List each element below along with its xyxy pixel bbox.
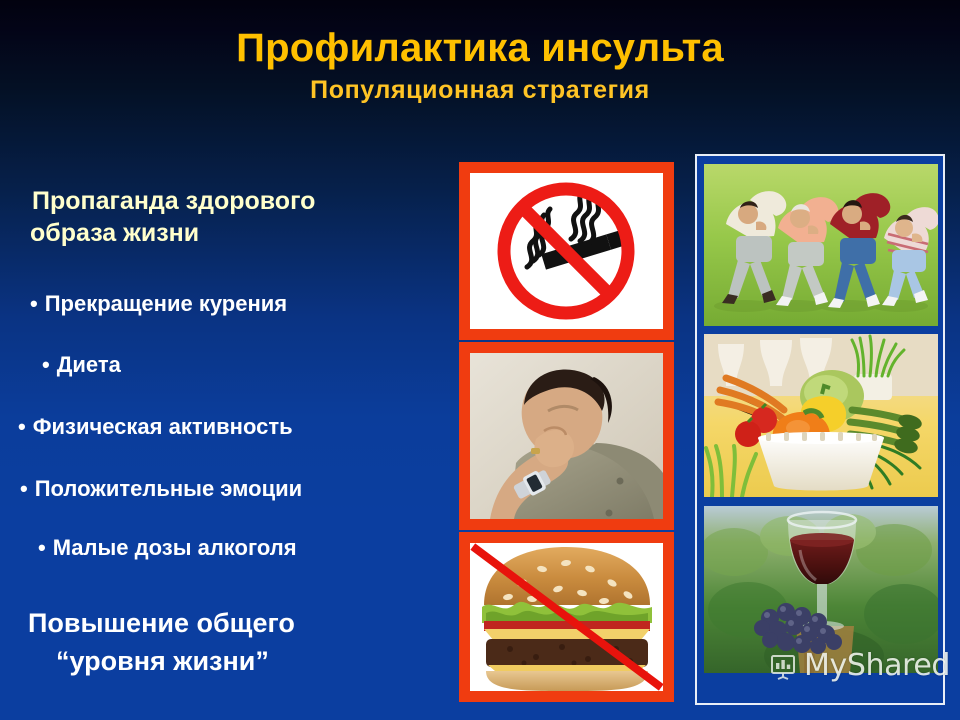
presentation-slide: Профилактика инсульта Популяционная стра… [0,0,960,720]
list-item: •Физическая активность [18,414,293,440]
photo-frame-no-smoking [459,162,674,340]
bullet-dot-icon: • [20,476,28,502]
list-item: •Диета [42,352,121,378]
list-item-label: Прекращение курения [45,291,287,316]
red-wine-grapes-photo [704,506,938,673]
burger-crossed-out-photo [470,543,663,691]
list-item: •Положительные эмоции [20,476,302,502]
closing-line-1: Повышение общего [28,608,295,638]
vegetables-bowl-photo [704,334,938,497]
list-item-label: Положительные эмоции [35,476,302,501]
list-item-label: Физическая активность [33,414,293,439]
lead-heading: Пропаганда здорового образа жизни [32,186,432,250]
right-photo-column [695,154,945,705]
list-item-label: Малые дозы алкоголя [53,535,297,560]
text-column: Пропаганда здорового образа жизни •Прекр… [0,186,440,706]
burger-illustration [470,543,663,691]
title-block: Профилактика инсульта Популяционная стра… [0,28,960,103]
bullet-dot-icon: • [38,535,46,561]
closing-statement: Повышение общего “уровня жизни” [28,604,428,681]
middle-photo-column [459,162,674,702]
list-item: •Прекращение курения [30,291,287,317]
closing-line-2: “уровня жизни” [56,642,428,680]
vegetables-bowl-illustration [704,334,938,497]
list-item-label: Диета [57,352,121,377]
stressed-man-photo [470,353,663,519]
no-smoking-icon [470,173,663,329]
wine-grapes-illustration [704,506,938,673]
photo-frame-burger [459,532,674,702]
people-exercising-illustration [704,164,938,326]
bullet-dot-icon: • [30,291,38,317]
bullet-dot-icon: • [18,414,26,440]
people-exercising-photo [704,164,938,326]
bullet-dot-icon: • [42,352,50,378]
page-title: Профилактика инсульта [0,28,960,68]
list-item: •Малые дозы алкоголя [38,535,297,561]
photo-frame-stressed-man [459,342,674,530]
lead-heading-line-2: образа жизни [30,218,432,250]
lead-heading-line-1: Пропаганда здорового [32,186,432,218]
page-subtitle: Популяционная стратегия [0,78,960,103]
no-smoking-sign [470,173,663,329]
stressed-man-illustration [470,353,663,519]
